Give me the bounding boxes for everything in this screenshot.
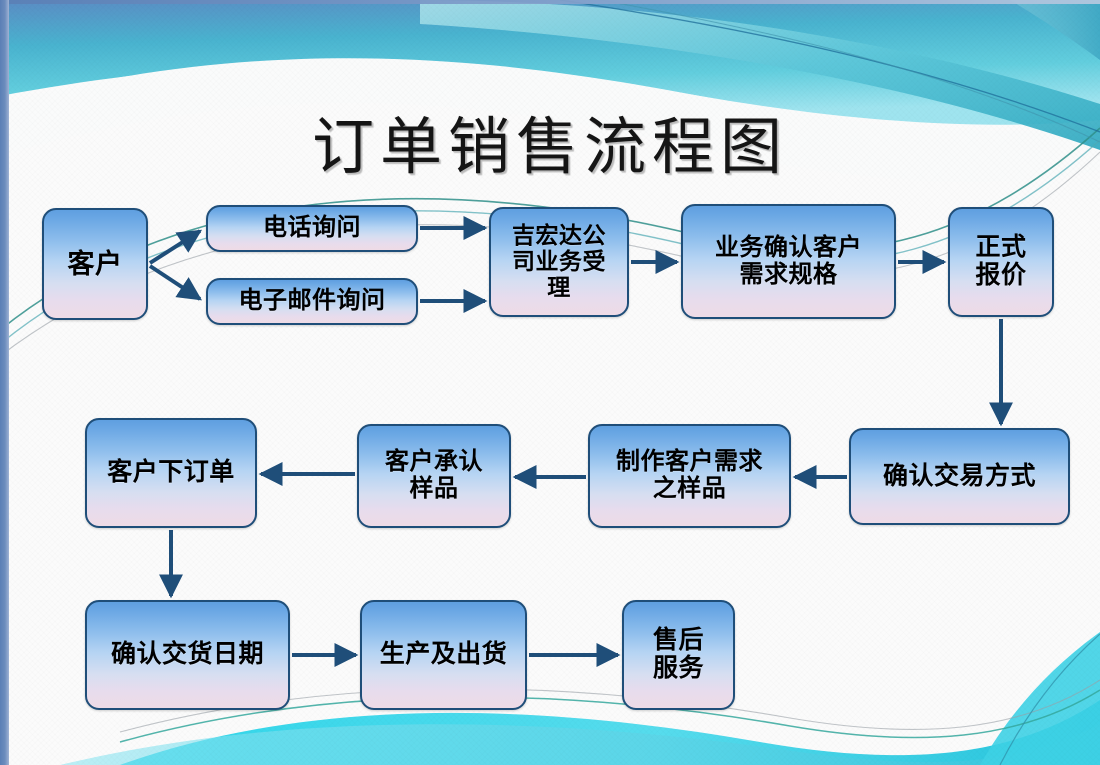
page-title: 订单销售流程图 <box>0 96 1100 186</box>
flow-node-after-sales[interactable]: 售后 服务 <box>622 600 735 710</box>
flow-node-confirm-terms[interactable]: 确认交易方式 <box>849 428 1070 525</box>
flow-node-confirm-delivery[interactable]: 确认交货日期 <box>85 600 290 710</box>
flow-node-customer[interactable]: 客户 <box>42 208 148 320</box>
flow-node-phone-inquiry[interactable]: 电话询问 <box>206 205 418 252</box>
flow-node-company-intake[interactable]: 吉宏达公 司业务受 理 <box>489 207 629 317</box>
flow-node-confirm-spec[interactable]: 业务确认客户 需求规格 <box>681 204 896 319</box>
flow-node-place-order[interactable]: 客户下订单 <box>85 418 257 528</box>
flow-node-email-inquiry[interactable]: 电子邮件询问 <box>206 278 418 325</box>
flow-node-produce-ship[interactable]: 生产及出货 <box>360 600 527 710</box>
flow-node-make-sample[interactable]: 制作客户需求 之样品 <box>588 424 791 528</box>
slide-canvas: 订单销售流程图 客户电话询问电子邮件询问吉宏达公 司业务受 理业务确认客户 需求… <box>0 0 1100 765</box>
flow-node-formal-quote[interactable]: 正式 报价 <box>948 207 1054 317</box>
flow-node-approve-sample[interactable]: 客户承认 样品 <box>357 424 511 528</box>
slide-top-edge <box>0 0 1100 4</box>
